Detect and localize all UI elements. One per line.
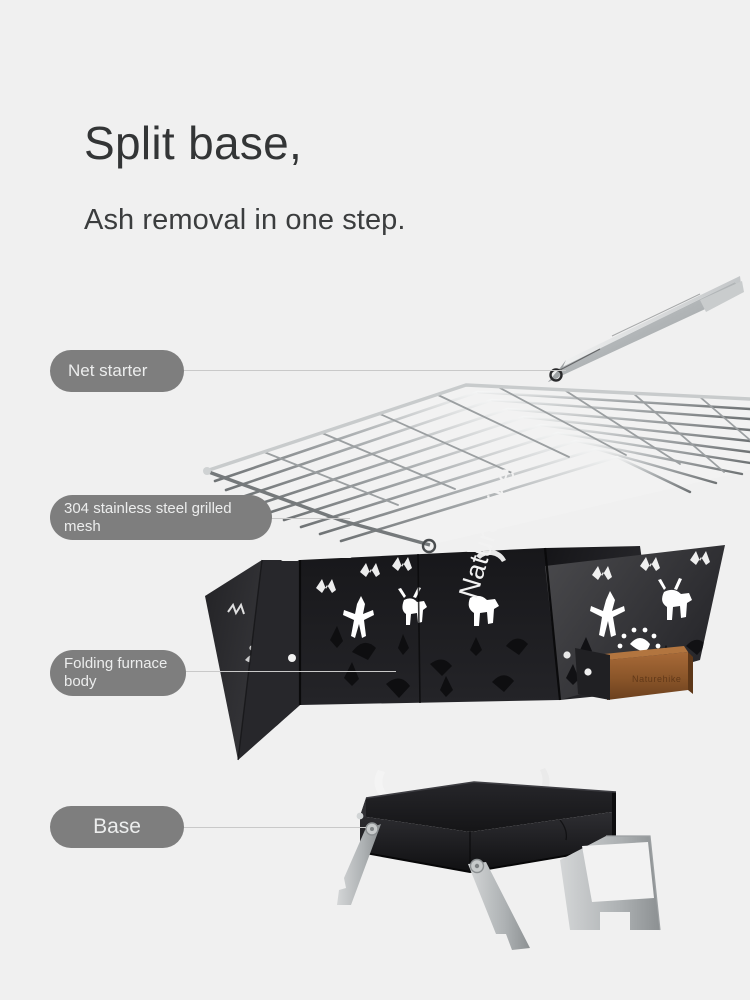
infographic-canvas: Naturehike bbox=[0, 0, 750, 1000]
leader-line-net-starter bbox=[180, 370, 566, 371]
wooden-handle: Naturehike bbox=[575, 646, 693, 700]
page-subtitle: Ash removal in one step. bbox=[84, 203, 406, 238]
callout-grill-mesh-label: 304 stainless steel grilled mesh bbox=[64, 500, 232, 535]
callout-grill-mesh[interactable]: 304 stainless steel grilled mesh bbox=[50, 495, 272, 540]
callout-base-label: Base bbox=[93, 815, 141, 839]
callout-furnace-body-label: Folding furnace body bbox=[64, 655, 167, 690]
callout-base[interactable]: Base bbox=[50, 806, 184, 848]
leader-line-furnace-body bbox=[180, 671, 396, 672]
page-title: Split base, bbox=[84, 117, 302, 170]
handle-brand-text: Naturehike bbox=[632, 674, 682, 684]
callout-net-starter-label: Net starter bbox=[68, 361, 147, 381]
callout-net-starter[interactable]: Net starter bbox=[50, 350, 184, 392]
net-starter-tool bbox=[548, 276, 744, 382]
callout-furnace-body[interactable]: Folding furnace body bbox=[50, 650, 186, 696]
leader-line-base bbox=[180, 827, 366, 828]
